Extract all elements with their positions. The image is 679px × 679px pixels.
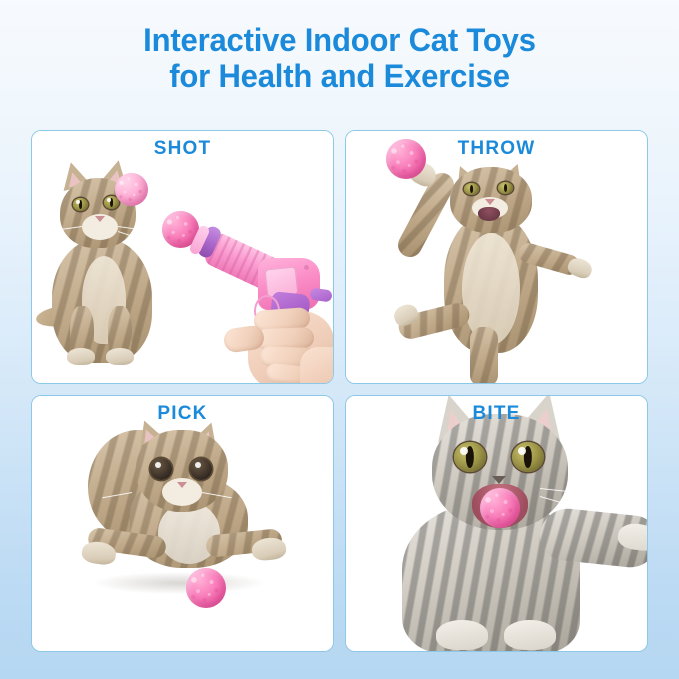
page-title: Interactive Indoor Cat Toys for Health a… xyxy=(0,22,679,94)
silver-tabby-cat xyxy=(380,396,647,651)
cat-eye-left xyxy=(454,442,486,472)
card-label-bite: BITE xyxy=(346,403,647,425)
cat-nose xyxy=(95,216,105,222)
hand-wrist xyxy=(300,347,333,383)
feature-card-grid: SHOT xyxy=(31,130,648,652)
cat-nose xyxy=(177,482,187,488)
feature-card-throw: THROW xyxy=(345,130,648,384)
pink-ball-upper xyxy=(115,173,148,206)
cat-nose xyxy=(485,199,495,205)
crouching-kitten xyxy=(86,416,286,596)
photo-bite xyxy=(346,396,647,651)
eye-glint-right xyxy=(107,198,111,202)
photo-pick xyxy=(32,396,333,651)
title-line-2: for Health and Exercise xyxy=(10,58,669,94)
photo-throw xyxy=(346,131,647,383)
card-label-throw: THROW xyxy=(346,138,647,160)
gun-dot xyxy=(304,265,309,270)
standing-tabby-cat xyxy=(392,141,592,383)
cat-eye-left xyxy=(150,458,172,480)
cat-paw-left xyxy=(67,348,95,365)
cat-eye-right xyxy=(190,458,212,480)
eye-glint-left xyxy=(155,462,161,468)
eye-glint-right xyxy=(518,447,526,455)
feature-card-pick: PICK xyxy=(31,395,334,652)
eye-glint-left xyxy=(460,447,468,455)
cat-eye-right xyxy=(498,182,513,194)
feature-card-shot: SHOT xyxy=(31,130,334,384)
cat-eye-left xyxy=(464,183,479,195)
cat-front-paw-right xyxy=(504,620,556,650)
eye-glint-right xyxy=(195,462,201,468)
card-label-pick: PICK xyxy=(32,403,333,425)
cat-front-paw-left xyxy=(436,620,488,650)
cat-paw-right xyxy=(106,348,134,365)
cat-open-mouth xyxy=(478,207,500,221)
product-infographic: Interactive Indoor Cat Toys for Health a… xyxy=(0,0,679,679)
leg-stripes xyxy=(470,327,498,383)
title-line-1: Interactive Indoor Cat Toys xyxy=(10,22,669,58)
human-hand xyxy=(228,299,333,383)
eye-glint-left xyxy=(76,200,80,204)
cat-nose xyxy=(492,476,506,484)
cat-whisker xyxy=(377,496,418,509)
pink-ball-in-mouth xyxy=(480,488,520,528)
feature-card-bite: BITE xyxy=(345,395,648,652)
cat-eye-left xyxy=(73,198,88,211)
photo-shot xyxy=(32,131,333,383)
cat-hind-leg-standing xyxy=(470,327,498,383)
pink-ball xyxy=(186,568,226,608)
card-label-shot: SHOT xyxy=(32,138,333,160)
cat-eye-right xyxy=(512,442,544,472)
